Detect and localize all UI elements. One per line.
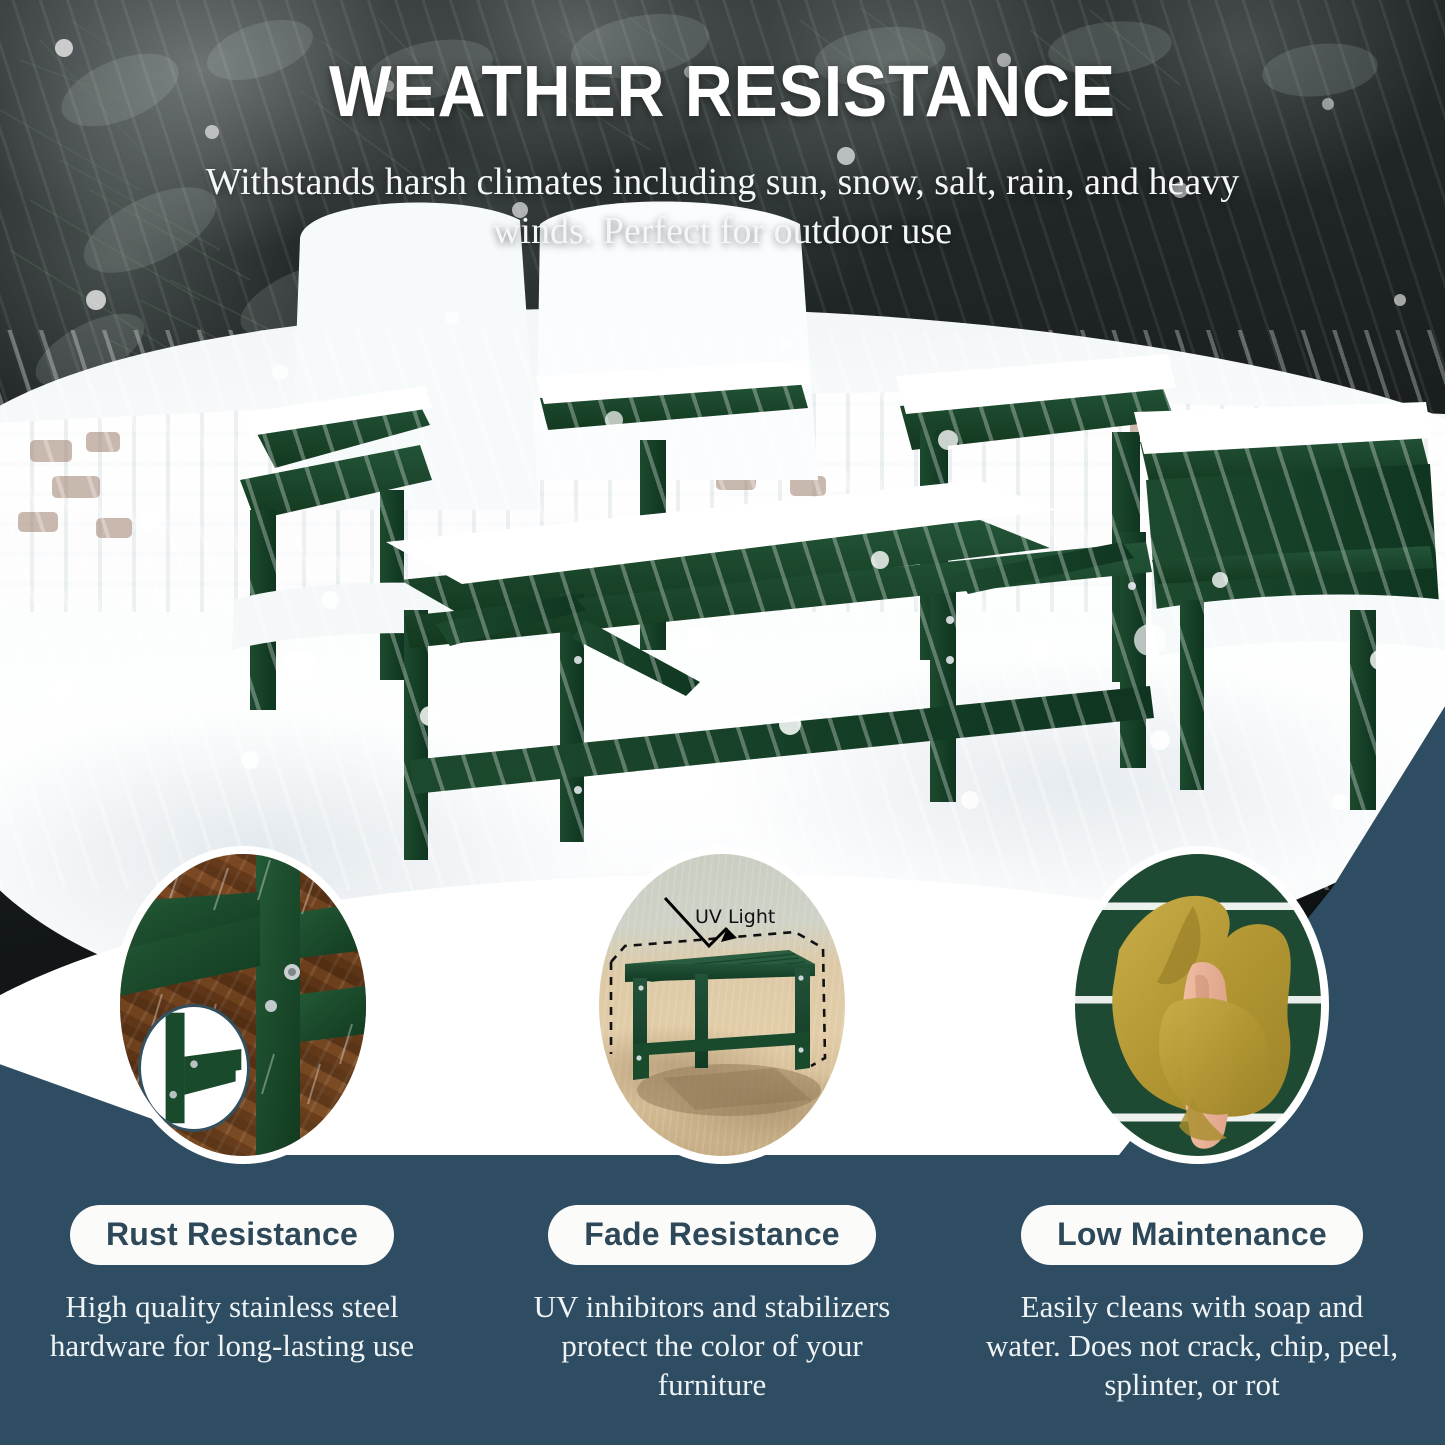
- uv-light-label: UV Light: [695, 906, 775, 928]
- status-badge[interactable]: Fade Resistance: [548, 1205, 876, 1265]
- status-badge[interactable]: Low Maintenance: [1021, 1205, 1363, 1265]
- feature-column: Fade Resistance UV inhibitors and stabil…: [482, 1205, 942, 1404]
- hand-with-cloth: [1075, 854, 1321, 1156]
- joint-magnifier-subcircle: [138, 1004, 250, 1132]
- joint-detail: [141, 1007, 247, 1129]
- feature-columns: Rust Resistance High quality stainless s…: [0, 1205, 1445, 1445]
- fade-resistance-inset[interactable]: UV Light: [591, 846, 853, 1164]
- page-subtitle: Withstands harsh climates including sun,…: [188, 158, 1258, 255]
- low-maintenance-inset[interactable]: [1067, 846, 1329, 1164]
- infographic-canvas: WEATHER RESISTANCE Withstands harsh clim…: [0, 0, 1445, 1445]
- status-badge[interactable]: Rust Resistance: [70, 1205, 394, 1265]
- feature-description: UV inhibitors and stabilizers protect th…: [482, 1287, 942, 1404]
- feature-column: Low Maintenance Easily cleans with soap …: [962, 1205, 1422, 1404]
- rust-resistance-inset[interactable]: [112, 846, 374, 1164]
- feature-column: Rust Resistance High quality stainless s…: [2, 1205, 462, 1365]
- page-title: WEATHER RESISTANCE: [58, 55, 1387, 131]
- feature-description: Easily cleans with soap and water. Does …: [962, 1287, 1422, 1404]
- table-on-sand: [599, 854, 845, 1156]
- feature-description: High quality stainless steel hardware fo…: [2, 1287, 462, 1365]
